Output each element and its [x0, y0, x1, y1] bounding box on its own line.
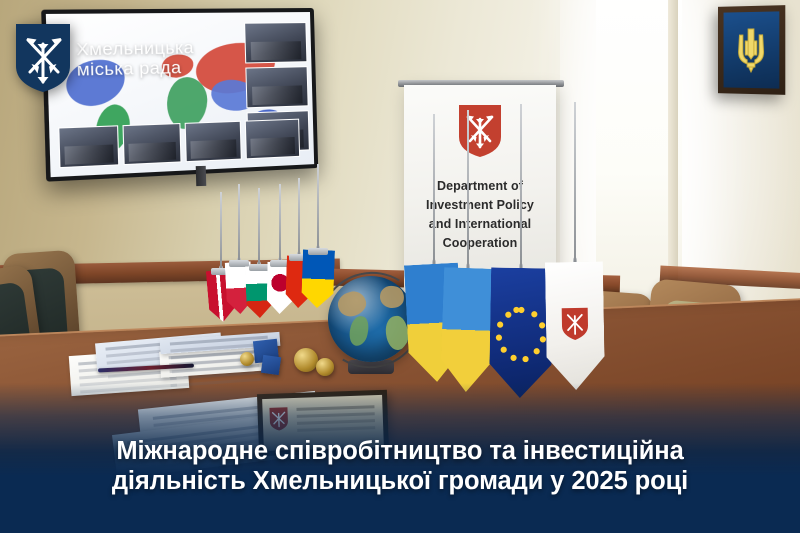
- tv-wall-mount: [196, 166, 207, 186]
- globe-landmass: [335, 288, 369, 319]
- ukrainian-trident-icon: [735, 25, 768, 75]
- photo-thumbnail: [244, 22, 307, 63]
- thumbnail-row: [58, 119, 300, 169]
- globe-landmass: [379, 284, 406, 309]
- social-media-news-card: Хмельницька міська рада: [0, 0, 800, 533]
- khmelnytskyi-city-council-emblem: [14, 22, 72, 94]
- framed-coat-of-arms: [718, 5, 785, 95]
- desk-ornament: [316, 358, 334, 376]
- photo-thumbnail: [122, 123, 181, 165]
- desk-ornament: [240, 352, 254, 366]
- photo-thumbnail: [245, 66, 308, 108]
- desk-object: [261, 355, 281, 375]
- caption-text: Міжнародне співробітництво та інвестицій…: [0, 437, 800, 497]
- photo-thumbnail: [185, 121, 242, 162]
- desk-ornament: [294, 348, 318, 372]
- photo-thumbnail: [58, 125, 119, 168]
- frame-mat: [724, 11, 780, 88]
- tv-title-text: Хмельницька міська рада: [76, 38, 195, 80]
- desk-globe: [328, 276, 414, 362]
- photo-thumbnail: [245, 119, 300, 160]
- globe-landmass: [347, 314, 371, 347]
- presentation-display: Хмельницька міська рада: [41, 8, 318, 182]
- department-shield-icon: [457, 103, 503, 159]
- tv-screen-content: Хмельницька міська рада: [46, 12, 314, 177]
